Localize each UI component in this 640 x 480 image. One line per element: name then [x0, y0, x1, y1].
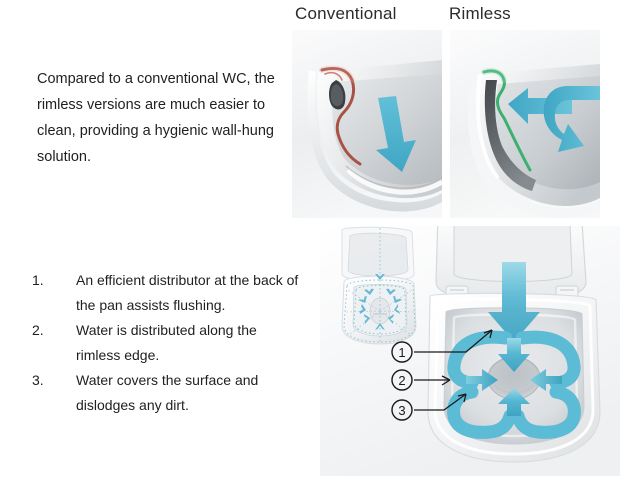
conventional-illustration [292, 30, 442, 218]
list-item-number: 3. [32, 368, 76, 393]
list-item: 3. Water covers the surface and dislodge… [32, 368, 300, 418]
rimless-illustration [450, 30, 600, 218]
steps-list: 1. An efficient distributor at the back … [32, 268, 300, 418]
callout-1-number: 1 [398, 345, 405, 360]
callout-3-number: 3 [398, 403, 405, 418]
list-item: 2. Water is distributed along the rimles… [32, 318, 300, 368]
column-header-conventional: Conventional [295, 3, 397, 25]
topview-illustration: 1 2 3 [320, 226, 620, 476]
list-item-text: Water covers the surface and dislodges a… [76, 368, 300, 418]
column-header-rimless: Rimless [449, 3, 511, 25]
image-panel-rimless [450, 30, 600, 218]
spray-pattern-inset [342, 227, 416, 344]
image-panel-topview: 1 2 3 [320, 226, 620, 476]
list-item-number: 2. [32, 318, 76, 343]
list-item: 1. An efficient distributor at the back … [32, 268, 300, 318]
list-item-text: An efficient distributor at the back of … [76, 268, 300, 318]
intro-paragraph: Compared to a conventional WC, the rimle… [37, 66, 299, 170]
list-item-text: Water is distributed along the rimless e… [76, 318, 300, 368]
callout-2-number: 2 [398, 373, 405, 388]
image-panel-conventional [292, 30, 442, 218]
list-item-number: 1. [32, 268, 76, 293]
